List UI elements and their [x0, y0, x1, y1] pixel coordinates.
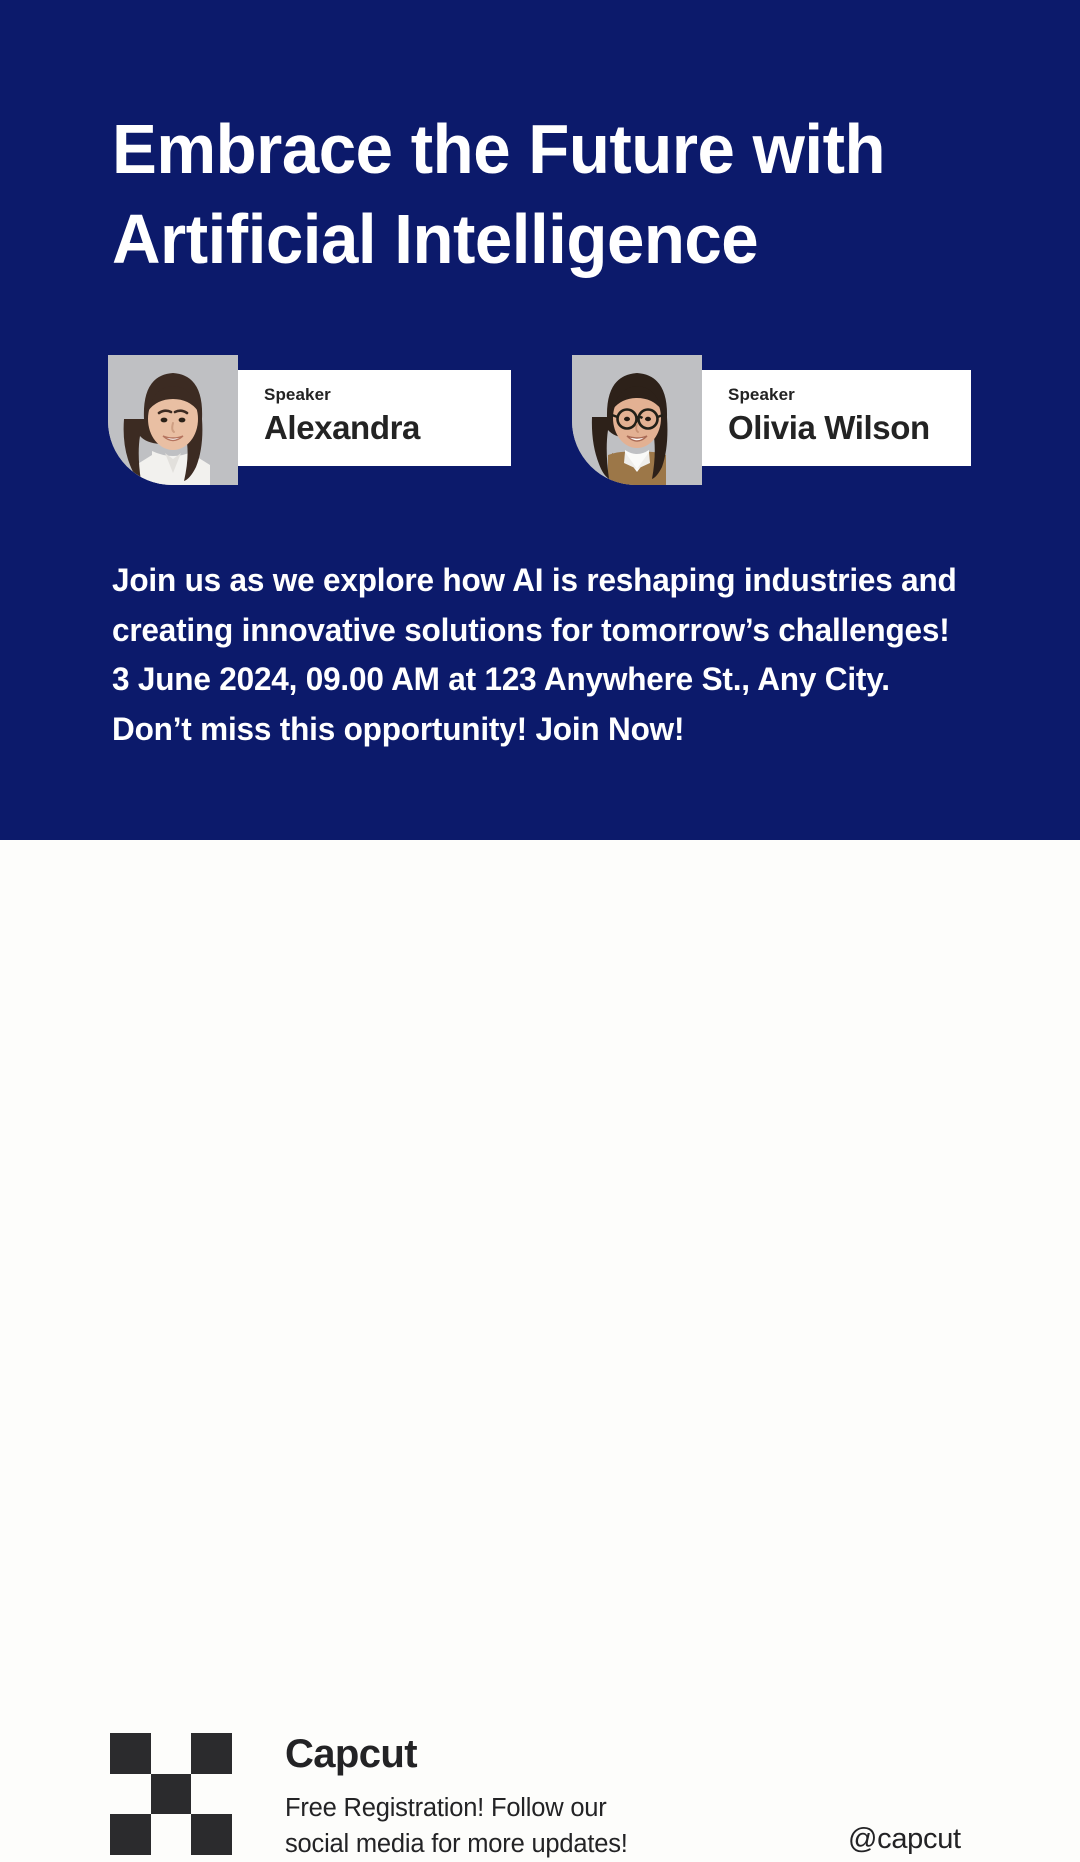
brand-block: Capcut Free Registration! Follow our soc… — [285, 1730, 755, 1862]
social-handle[interactable]: @capcut — [848, 1823, 961, 1856]
speaker-role-label: Speaker — [264, 385, 511, 405]
logo-cell — [151, 1733, 192, 1774]
logo-cell — [191, 1733, 232, 1774]
brand-tagline: Free Registration! Follow our social med… — [285, 1790, 755, 1862]
logo-cell — [151, 1814, 192, 1855]
checkerboard-logo-icon — [110, 1733, 232, 1855]
logo-cell — [191, 1774, 232, 1815]
speaker-info-card: Speaker Alexandra — [238, 370, 511, 466]
event-description: Join us as we explore how AI is reshapin… — [112, 556, 966, 754]
speaker-list: Speaker Alexandra — [108, 355, 988, 495]
speaker-photo-alexandra — [108, 355, 238, 485]
event-poster: Embrace the Future with Artificial Intel… — [0, 0, 1080, 1080]
logo-cell — [191, 1814, 232, 1855]
speaker-info-card: Speaker Olivia Wilson — [702, 370, 971, 466]
logo-cell — [110, 1814, 151, 1855]
footer-section: Capcut Free Registration! Follow our soc… — [0, 840, 1080, 1080]
speaker-name-label: Alexandra — [264, 407, 511, 449]
hero-section: Embrace the Future with Artificial Intel… — [0, 0, 1080, 840]
brand-name: Capcut — [285, 1730, 755, 1778]
page-title: Embrace the Future with Artificial Intel… — [112, 104, 957, 284]
speaker-name-label: Olivia Wilson — [728, 407, 971, 449]
logo-cell — [110, 1774, 151, 1815]
logo-cell — [110, 1733, 151, 1774]
logo-cell — [151, 1774, 192, 1815]
speaker-photo-olivia-wilson — [572, 355, 702, 485]
speaker-role-label: Speaker — [728, 385, 971, 405]
